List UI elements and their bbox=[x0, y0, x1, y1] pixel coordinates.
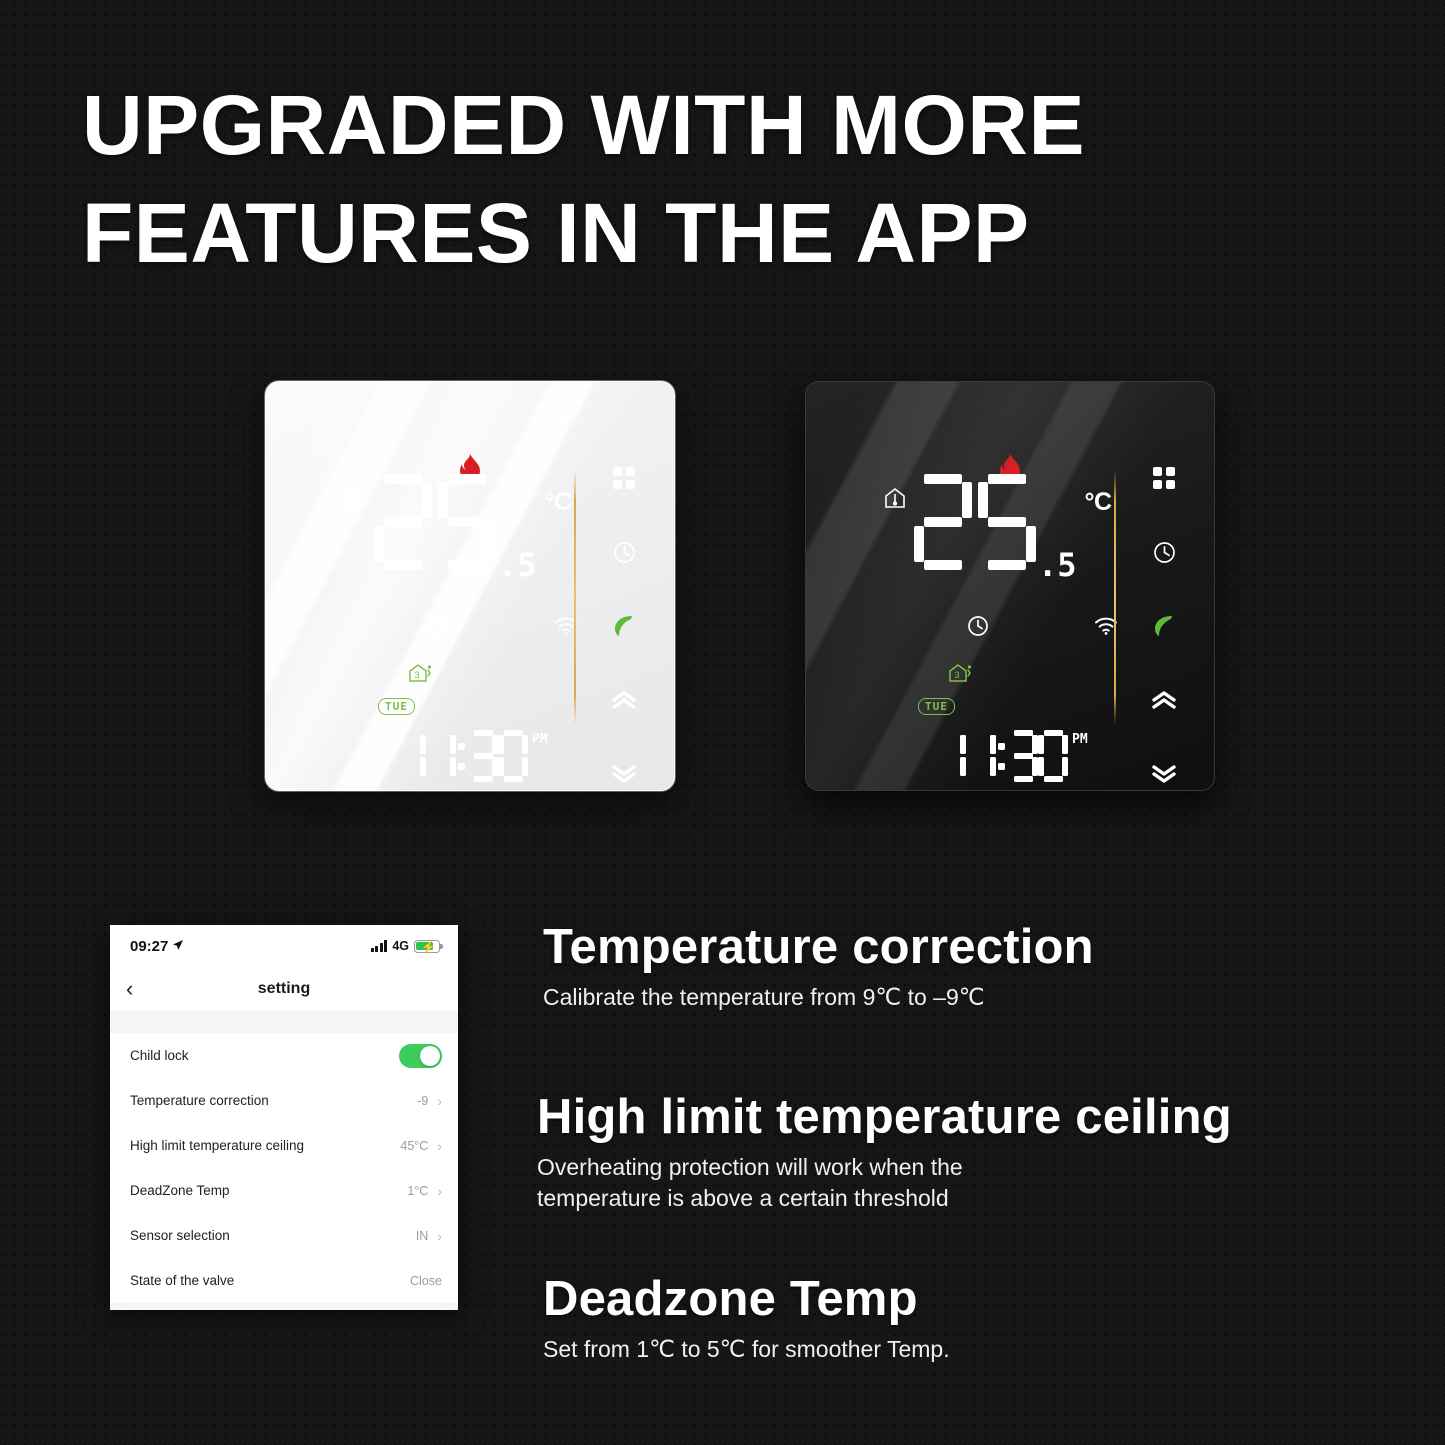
row-value: -9 bbox=[417, 1094, 428, 1108]
white-thermostat-display: .5 °C 3 TUE bbox=[266, 382, 674, 790]
feature-high-limit-ceiling: High limit temperature ceiling Overheati… bbox=[537, 1090, 1417, 1214]
day-badge: TUE bbox=[918, 698, 955, 715]
phone-screenshot: 09:27 4G ⚡ ‹ setting Child lock bbox=[110, 925, 458, 1310]
house-temperature-icon bbox=[884, 486, 906, 515]
white-time-readout: PM bbox=[396, 730, 548, 782]
page-headline: UPGRADED WITH MORE FEATURES IN THE APP bbox=[82, 72, 1262, 287]
time-digit-3 bbox=[468, 730, 498, 782]
black-temperature-readout: .5 °C bbox=[914, 474, 1112, 584]
status-bar-time: 09:27 bbox=[130, 938, 168, 955]
headline-line-1: UPGRADED WITH MORE bbox=[82, 72, 1262, 180]
grid-power-icon[interactable] bbox=[613, 448, 635, 508]
feature-description: Set from 1℃ to 5℃ for smoother Temp. bbox=[543, 1334, 1413, 1365]
grid-power-icon[interactable] bbox=[1153, 448, 1175, 508]
phone-nav-bar: ‹ setting bbox=[110, 967, 458, 1011]
chevron-down-icon[interactable] bbox=[1150, 744, 1178, 791]
chevron-right-icon: › bbox=[437, 1138, 442, 1154]
time-ampm: PM bbox=[532, 732, 548, 747]
row-value: 1°C bbox=[407, 1184, 428, 1198]
program-house-icon: 3 bbox=[948, 662, 974, 689]
digit-tens bbox=[374, 474, 432, 570]
chevron-up-icon[interactable] bbox=[610, 670, 638, 730]
time-digit-2 bbox=[426, 730, 456, 782]
location-arrow-icon bbox=[172, 938, 184, 955]
time-digit-4 bbox=[498, 730, 528, 782]
gold-divider-line bbox=[574, 470, 576, 725]
eco-leaf-icon[interactable] bbox=[1153, 596, 1175, 656]
timer-icon[interactable] bbox=[612, 522, 637, 582]
chevron-up-icon[interactable] bbox=[1150, 670, 1178, 730]
svg-text:3: 3 bbox=[415, 670, 420, 680]
chevron-right-icon: › bbox=[437, 1183, 442, 1199]
temperature-unit: °C bbox=[545, 488, 572, 517]
digit-ones bbox=[978, 474, 1036, 570]
signal-bars-icon bbox=[371, 940, 388, 952]
feature-temperature-correction: Temperature correction Calibrate the tem… bbox=[543, 920, 1413, 1013]
row-label: Child lock bbox=[130, 1048, 189, 1063]
house-temperature-icon bbox=[344, 486, 366, 515]
page-title: setting bbox=[110, 980, 458, 998]
list-item[interactable]: Child lock bbox=[110, 1033, 458, 1078]
row-label: Sensor selection bbox=[130, 1228, 230, 1243]
clock-icon bbox=[426, 614, 450, 643]
digit-ones bbox=[438, 474, 496, 570]
row-value: 45°C bbox=[400, 1139, 428, 1153]
black-thermostat-display: .5 °C 3 TUE bbox=[806, 382, 1214, 790]
time-colon bbox=[996, 730, 1008, 782]
feature-description: Calibrate the temperature from 9℃ to –9℃ bbox=[543, 982, 1413, 1013]
row-label: High limit temperature ceiling bbox=[130, 1138, 304, 1153]
gold-divider-line bbox=[1114, 470, 1116, 725]
section-gap bbox=[110, 1011, 458, 1033]
row-label: Temperature correction bbox=[130, 1093, 269, 1108]
row-label: State of the valve bbox=[130, 1273, 234, 1288]
headline-line-2: FEATURES IN THE APP bbox=[82, 180, 1262, 288]
chevron-right-icon: › bbox=[437, 1093, 442, 1109]
row-value: Close bbox=[410, 1274, 442, 1288]
feature-title: Temperature correction bbox=[543, 920, 1413, 975]
chevron-right-icon: › bbox=[437, 1228, 442, 1244]
list-item[interactable]: State of the valve Close bbox=[110, 1258, 458, 1303]
time-ampm: PM bbox=[1072, 732, 1088, 747]
feature-title: High limit temperature ceiling bbox=[537, 1090, 1417, 1145]
row-label: DeadZone Temp bbox=[130, 1183, 230, 1198]
time-colon bbox=[456, 730, 468, 782]
eco-leaf-icon[interactable] bbox=[613, 596, 635, 656]
battery-charging-icon: ⚡ bbox=[414, 940, 440, 953]
svg-text:3: 3 bbox=[955, 670, 960, 680]
temperature-unit: °C bbox=[1085, 488, 1112, 517]
program-house-icon: 3 bbox=[408, 662, 434, 689]
list-footer bbox=[110, 1303, 458, 1310]
list-item[interactable]: Sensor selection IN › bbox=[110, 1213, 458, 1258]
time-digit-4 bbox=[1038, 730, 1068, 782]
time-digit-1 bbox=[396, 730, 426, 782]
child-lock-toggle[interactable] bbox=[399, 1044, 442, 1068]
time-digit-3 bbox=[1008, 730, 1038, 782]
time-digit-1 bbox=[936, 730, 966, 782]
settings-list: Child lock Temperature correction -9 › H… bbox=[110, 1033, 458, 1303]
row-value: IN bbox=[416, 1229, 429, 1243]
black-time-readout: PM bbox=[936, 730, 1088, 782]
feature-title: Deadzone Temp bbox=[543, 1272, 1413, 1327]
time-digit-2 bbox=[966, 730, 996, 782]
chevron-left-icon[interactable]: ‹ bbox=[126, 978, 133, 1000]
phone-status-bar: 09:27 4G ⚡ bbox=[110, 925, 458, 967]
network-type-label: 4G bbox=[392, 939, 409, 953]
clock-icon bbox=[966, 614, 990, 643]
temperature-decimal: .5 bbox=[1038, 546, 1077, 584]
feature-description: Overheating protection will work when th… bbox=[537, 1152, 1417, 1214]
list-item[interactable]: High limit temperature ceiling 45°C › bbox=[110, 1123, 458, 1168]
white-thermostat[interactable]: .5 °C 3 TUE bbox=[265, 381, 675, 791]
black-thermostat[interactable]: .5 °C 3 TUE bbox=[805, 381, 1215, 791]
white-temperature-readout: .5 °C bbox=[374, 474, 572, 584]
day-badge: TUE bbox=[378, 698, 415, 715]
chevron-down-icon[interactable] bbox=[610, 744, 638, 791]
list-item[interactable]: DeadZone Temp 1°C › bbox=[110, 1168, 458, 1213]
list-item[interactable]: Temperature correction -9 › bbox=[110, 1078, 458, 1123]
timer-icon[interactable] bbox=[1152, 522, 1177, 582]
temperature-decimal: .5 bbox=[498, 546, 537, 584]
feature-deadzone-temp: Deadzone Temp Set from 1℃ to 5℃ for smoo… bbox=[543, 1272, 1413, 1365]
digit-tens bbox=[914, 474, 972, 570]
